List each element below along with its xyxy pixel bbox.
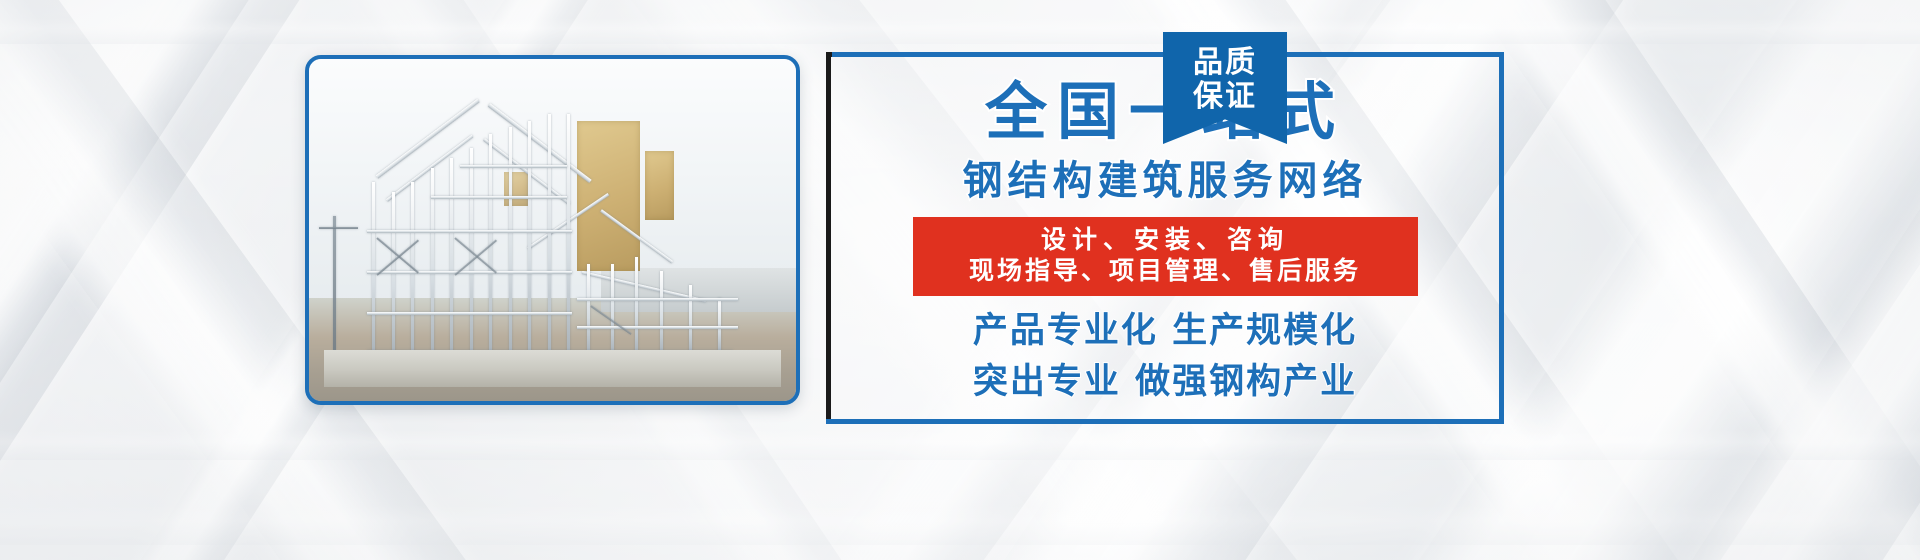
photo-frame-bar (548, 114, 551, 353)
photo-frame-bar (367, 271, 572, 274)
photo-frame-bar (689, 285, 692, 353)
panel-right-border (1499, 52, 1504, 424)
services-line-2: 现场指导、项目管理、售后服务 (913, 255, 1418, 286)
services-highlight-block: 设计、安装、咨询 现场指导、项目管理、售后服务 (913, 217, 1418, 296)
photo-frame-bar (450, 158, 453, 353)
photo-frame-bar (587, 264, 590, 353)
photo-background-building (601, 268, 796, 312)
services-line-1: 设计、安装、咨询 (913, 224, 1418, 255)
photo-frame-bar (509, 127, 512, 353)
photo-frame-bar (635, 257, 638, 353)
badge-line-2: 保证 (1193, 80, 1257, 114)
photo-frame-bar (528, 121, 531, 354)
slogan-line-2: 突出专业 做强钢构产业 (973, 365, 1357, 400)
promotional-banner: 全国一站式 钢结构建筑服务网络 设计、安装、咨询 现场指导、项目管理、售后服务 … (0, 0, 1920, 560)
panel-bottom-border (826, 419, 1504, 424)
photo-frame-bar (660, 271, 663, 353)
photo-frame-bar (460, 165, 567, 168)
construction-photo (309, 59, 796, 401)
subheadline: 钢结构建筑服务网络 (963, 161, 1368, 201)
photo-frame-bar (567, 114, 570, 353)
badge-line-1: 品质 (1193, 46, 1257, 80)
photo-card (305, 55, 800, 405)
photo-frame-bar (577, 298, 738, 301)
photo-osb-panel (645, 151, 674, 219)
photo-frame-bar (367, 230, 572, 233)
photo-frame-bar (431, 196, 567, 199)
slogan-line-1: 产品专业化 生产规模化 (973, 314, 1357, 349)
photo-frame-bar (372, 182, 375, 353)
photo-frame-bar (367, 312, 572, 315)
photo-frame-bar (577, 326, 738, 329)
photo-frame-bar (611, 264, 614, 353)
photo-osb-panel (504, 172, 528, 206)
photo-utility-pole (333, 216, 336, 353)
photo-utility-pole-arm (319, 227, 358, 229)
photo-concrete-slab (324, 350, 782, 388)
